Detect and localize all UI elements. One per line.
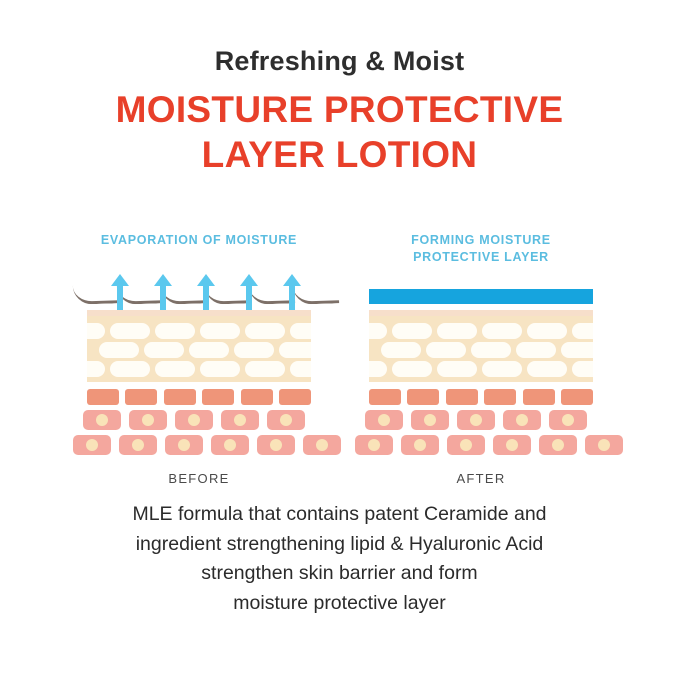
stratum-corneum-layer bbox=[369, 316, 593, 382]
corneum-cell bbox=[426, 342, 466, 358]
page-title-line-1: MOISTURE PROTECTIVE bbox=[0, 87, 679, 132]
basal-layer-row bbox=[87, 435, 311, 455]
corneum-cell bbox=[87, 323, 105, 339]
corneum-cell bbox=[234, 342, 274, 358]
layer-gap bbox=[87, 382, 311, 389]
description-line-1: MLE formula that contains patent Ceramid… bbox=[0, 500, 679, 530]
panel-after-label-line-2: PROTECTIVE LAYER bbox=[369, 249, 593, 266]
cell-nucleus bbox=[424, 414, 436, 426]
corneum-cell bbox=[87, 361, 105, 377]
description-line-4: moisture protective layer bbox=[0, 589, 679, 619]
corneum-cell bbox=[245, 323, 285, 339]
panel-after: FORMING MOISTURE PROTECTIVE LAYER AFTER bbox=[369, 232, 593, 486]
granular-cell bbox=[279, 389, 311, 405]
corneum-cell bbox=[471, 342, 511, 358]
cell-nucleus bbox=[562, 414, 574, 426]
corneum-cell bbox=[369, 361, 387, 377]
arrow-shaft bbox=[160, 283, 166, 310]
arrow-shaft bbox=[246, 283, 252, 310]
corneum-cell bbox=[110, 361, 150, 377]
granular-cell bbox=[561, 389, 593, 405]
cell-nucleus bbox=[378, 414, 390, 426]
panel-before-label-line-1: EVAPORATION OF MOISTURE bbox=[87, 232, 311, 249]
corneum-cell bbox=[110, 323, 150, 339]
granular-cell bbox=[164, 389, 196, 405]
arrow-shaft bbox=[117, 283, 123, 310]
granular-cell bbox=[446, 389, 478, 405]
cell-nucleus bbox=[460, 439, 472, 451]
corneum-cell bbox=[381, 342, 421, 358]
corneum-cell bbox=[482, 323, 522, 339]
protective-layer-zone bbox=[369, 272, 593, 310]
header-block: Refreshing & Moist MOISTURE PROTECTIVE L… bbox=[0, 46, 679, 177]
corneum-cell bbox=[572, 361, 593, 377]
corneum-cell bbox=[437, 323, 477, 339]
page-title: MOISTURE PROTECTIVE LAYER LOTION bbox=[0, 87, 679, 177]
arrow-head bbox=[240, 274, 258, 286]
corneum-cell bbox=[392, 323, 432, 339]
spinous-layer-row bbox=[369, 410, 593, 430]
cell-nucleus bbox=[270, 439, 282, 451]
caption-after: AFTER bbox=[369, 471, 593, 486]
granular-layer-row bbox=[87, 389, 311, 405]
infographic-page: { "header": { "subtitle": "Refreshing & … bbox=[0, 0, 679, 679]
description-line-3: strengthen skin barrier and form bbox=[0, 559, 679, 589]
corneum-cell bbox=[200, 361, 240, 377]
arrow-head bbox=[154, 274, 172, 286]
corneum-cell bbox=[200, 323, 240, 339]
cell-nucleus bbox=[368, 439, 380, 451]
granular-cell bbox=[241, 389, 273, 405]
evaporation-arrow-icon bbox=[111, 274, 129, 310]
corneum-cell bbox=[527, 323, 567, 339]
cell-nucleus bbox=[316, 439, 328, 451]
corneum-cell bbox=[392, 361, 432, 377]
cell-nucleus bbox=[142, 414, 154, 426]
cell-nucleus bbox=[280, 414, 292, 426]
corneum-cell bbox=[290, 361, 311, 377]
granular-cell bbox=[87, 389, 119, 405]
corneum-cell bbox=[245, 361, 285, 377]
arrow-head bbox=[197, 274, 215, 286]
corneum-cell bbox=[572, 323, 593, 339]
corneum-cell bbox=[290, 323, 311, 339]
corneum-cell bbox=[482, 361, 522, 377]
panel-before-label: EVAPORATION OF MOISTURE bbox=[87, 232, 311, 272]
arrow-head bbox=[111, 274, 129, 286]
caption-before: BEFORE bbox=[87, 471, 311, 486]
cell-nucleus bbox=[224, 439, 236, 451]
arrow-shaft bbox=[203, 283, 209, 310]
cell-nucleus bbox=[506, 439, 518, 451]
arrow-shaft bbox=[289, 283, 295, 310]
basal-layer-row bbox=[369, 435, 593, 455]
cell-nucleus bbox=[516, 414, 528, 426]
skin-diagram-before bbox=[87, 272, 311, 455]
diagram-comparison: EVAPORATION OF MOISTURE BEFORE FORMING M… bbox=[0, 232, 679, 467]
corneum-cell bbox=[279, 342, 311, 358]
cell-nucleus bbox=[470, 414, 482, 426]
granular-cell bbox=[407, 389, 439, 405]
granular-cell bbox=[369, 389, 401, 405]
cell-nucleus bbox=[86, 439, 98, 451]
granular-layer-row bbox=[369, 389, 593, 405]
spinous-layer-row bbox=[87, 410, 311, 430]
granular-cell bbox=[125, 389, 157, 405]
evaporation-arrow-icon bbox=[240, 274, 258, 310]
panel-before: EVAPORATION OF MOISTURE BEFORE bbox=[87, 232, 311, 486]
cell-nucleus bbox=[598, 439, 610, 451]
evaporation-arrow-icon bbox=[197, 274, 215, 310]
description-paragraph: MLE formula that contains patent Ceramid… bbox=[0, 500, 679, 619]
corneum-cell bbox=[561, 342, 593, 358]
cell-nucleus bbox=[188, 414, 200, 426]
corneum-cell bbox=[155, 323, 195, 339]
page-title-line-2: LAYER LOTION bbox=[0, 132, 679, 177]
evaporation-arrow-icon bbox=[283, 274, 301, 310]
moisture-barrier-bar bbox=[369, 289, 593, 304]
subtitle: Refreshing & Moist bbox=[0, 46, 679, 77]
stratum-corneum-layer bbox=[87, 316, 311, 382]
corneum-cell bbox=[144, 342, 184, 358]
corneum-cell bbox=[527, 361, 567, 377]
corneum-cell bbox=[155, 361, 195, 377]
granular-cell bbox=[202, 389, 234, 405]
evaporation-zone bbox=[87, 272, 311, 310]
evaporation-arrow-icon bbox=[154, 274, 172, 310]
cell-nucleus bbox=[552, 439, 564, 451]
corneum-cell bbox=[189, 342, 229, 358]
corneum-cell bbox=[369, 323, 387, 339]
granular-cell bbox=[484, 389, 516, 405]
cell-nucleus bbox=[414, 439, 426, 451]
granular-cell bbox=[523, 389, 555, 405]
skin-diagram-after bbox=[369, 272, 593, 455]
corneum-cell bbox=[437, 361, 477, 377]
cell-nucleus bbox=[178, 439, 190, 451]
cell-nucleus bbox=[234, 414, 246, 426]
cell-nucleus bbox=[96, 414, 108, 426]
panel-after-label-line-1: FORMING MOISTURE bbox=[369, 232, 593, 249]
corneum-cell bbox=[99, 342, 139, 358]
arrow-head bbox=[283, 274, 301, 286]
corneum-cell bbox=[516, 342, 556, 358]
description-line-2: ingredient strengthening lipid & Hyaluro… bbox=[0, 530, 679, 560]
layer-gap bbox=[369, 382, 593, 389]
panel-after-label: FORMING MOISTURE PROTECTIVE LAYER bbox=[369, 232, 593, 272]
cell-nucleus bbox=[132, 439, 144, 451]
